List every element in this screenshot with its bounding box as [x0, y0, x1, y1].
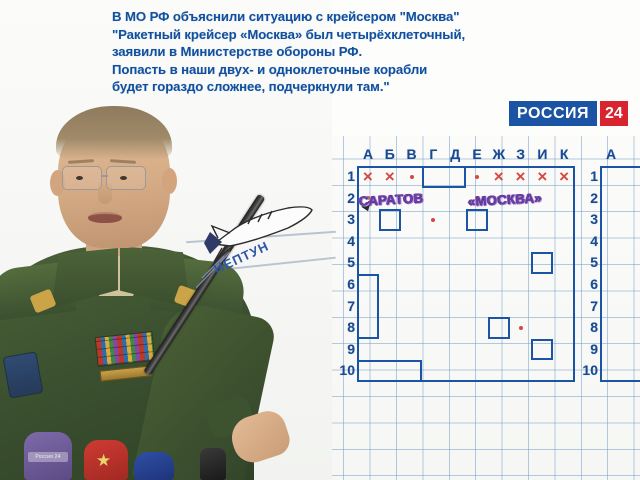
logo-channel-name: РОССИЯ [509, 101, 597, 126]
star-icon: ★ [96, 452, 111, 469]
board-row-header-9: 9 [336, 339, 355, 361]
miss-dot-icon [519, 326, 523, 330]
board-column-header-Ж: Ж [488, 145, 510, 164]
microphone-dark [200, 448, 226, 480]
board-right-row-header-1: 1 [579, 166, 598, 188]
headline-line-1: В МО РФ объяснили ситуацию с крейсером "… [112, 8, 532, 26]
ear-right [162, 168, 177, 194]
board-row-header-2: 2 [336, 188, 355, 210]
eye-left [76, 176, 83, 180]
hit-x-icon: × [379, 168, 401, 190]
ship-name-label: САРАТОВ [359, 190, 424, 208]
board-row-header-5: 5 [336, 252, 355, 274]
screenshot-root: В МО РФ объяснили ситуацию с крейсером "… [0, 0, 640, 480]
board-column-header-В: В [401, 145, 423, 164]
board-column-header-Б: Б [379, 145, 401, 164]
board-row-header-4: 4 [336, 231, 355, 253]
board-column-header-Е: Е [466, 145, 488, 164]
medal-ribbons [95, 331, 156, 367]
microphone-flag-label: Россия 24 [28, 452, 68, 462]
board-right-row-header-10: 10 [579, 360, 598, 382]
headline-line-4: Попасть в наши двух- и одноклеточные кор… [112, 61, 532, 79]
headline-caption: В МО РФ объяснили ситуацию с крейсером "… [112, 8, 532, 96]
board-right-row-header-5: 5 [579, 252, 598, 274]
board-right-row-header-8: 8 [579, 317, 598, 339]
ship-cell[interactable] [357, 274, 379, 339]
board-row-header-7: 7 [336, 296, 355, 318]
board-right-column-header-А: А [600, 145, 622, 164]
board-column-header-З: З [510, 145, 532, 164]
board-row-header-6: 6 [336, 274, 355, 296]
board-column-header-И: И [531, 145, 553, 164]
neptune-missile-doodle: НЕПТУН [196, 192, 356, 302]
hit-x-icon: × [357, 168, 379, 190]
board-column-header-Д: Д [444, 145, 466, 164]
board-right-frame-rect [600, 166, 640, 382]
hit-x-icon: × [488, 168, 510, 190]
ship-cell[interactable] [488, 317, 510, 339]
headline-line-5: будет гораздо сложнее, подчеркнули там." [112, 78, 532, 96]
board-row-header-10: 10 [336, 360, 355, 382]
sleeve-patch [3, 351, 44, 398]
ship-cell[interactable] [422, 166, 466, 188]
headline-line-2: "Ракетный крейсер «Москва» был четырёхкл… [112, 26, 532, 44]
ship-cell[interactable] [531, 339, 553, 361]
board-column-header-Г: Г [422, 145, 444, 164]
miss-dot-icon [410, 175, 414, 179]
rossiya-24-logo: РОССИЯ 24 [509, 101, 628, 126]
logo-channel-number: 24 [600, 101, 628, 126]
ship-cell[interactable] [466, 209, 488, 231]
missile-icon [196, 192, 356, 302]
board-right-row-header-2: 2 [579, 188, 598, 210]
hit-x-icon: × [531, 168, 553, 190]
board-right-row-header-9: 9 [579, 339, 598, 361]
miss-dot-icon [475, 175, 479, 179]
board-row-header-3: 3 [336, 209, 355, 231]
eye-right [120, 176, 127, 180]
board-right-row-header-7: 7 [579, 296, 598, 318]
ship-cell[interactable] [531, 252, 553, 274]
hit-x-icon: × [553, 168, 575, 190]
headline-line-3: заявили в Министерстве обороны РФ. [112, 43, 532, 61]
glasses-bridge [102, 175, 108, 177]
microphone-blue [134, 452, 174, 480]
board-column-header-А: А [357, 145, 379, 164]
board-right-row-header-4: 4 [579, 231, 598, 253]
hit-x-icon: × [510, 168, 532, 190]
board-column-header-К: К [553, 145, 575, 164]
mouth [88, 212, 122, 223]
board-row-header-1: 1 [336, 166, 355, 188]
ship-cell[interactable] [379, 209, 401, 231]
nose [98, 182, 112, 204]
board-right-row-header-3: 3 [579, 209, 598, 231]
board-row-header-8: 8 [336, 317, 355, 339]
ship-cell[interactable] [357, 360, 422, 382]
board-right-row-header-6: 6 [579, 274, 598, 296]
hair [56, 106, 172, 160]
